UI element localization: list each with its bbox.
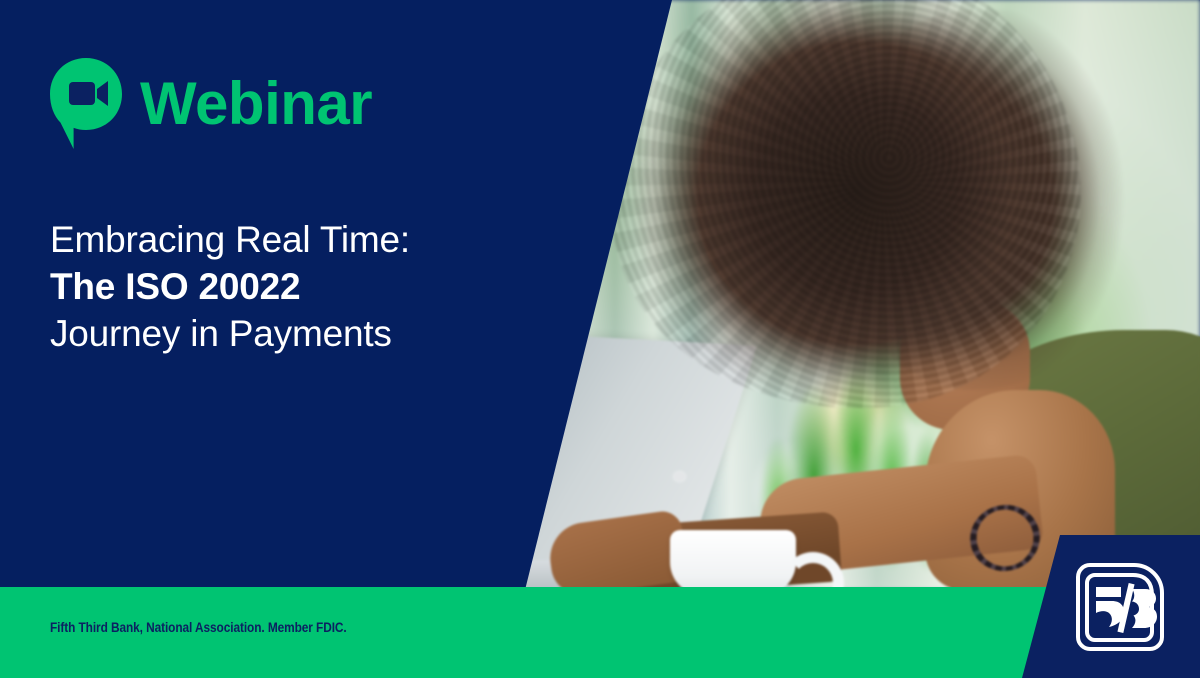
finger-ring bbox=[674, 472, 685, 481]
page-title: Embracing Real Time: The ISO 20022 Journ… bbox=[50, 216, 410, 357]
legal-disclaimer: Fifth Third Bank, National Association. … bbox=[50, 620, 347, 635]
webinar-label: Webinar bbox=[140, 74, 372, 134]
headline-line-1: Embracing Real Time: bbox=[50, 216, 410, 263]
webinar-video-bubble-icon bbox=[48, 56, 124, 152]
headline-line-2: The ISO 20022 bbox=[50, 263, 410, 310]
webinar-brand-lockup: Webinar bbox=[48, 56, 372, 152]
headline-line-3: Journey in Payments bbox=[50, 310, 410, 357]
webinar-promo-banner: Woman with curly hair and glasses smilin… bbox=[0, 0, 1200, 678]
fifth-third-bank-logo bbox=[1076, 563, 1164, 651]
coffee-mug bbox=[670, 530, 796, 590]
